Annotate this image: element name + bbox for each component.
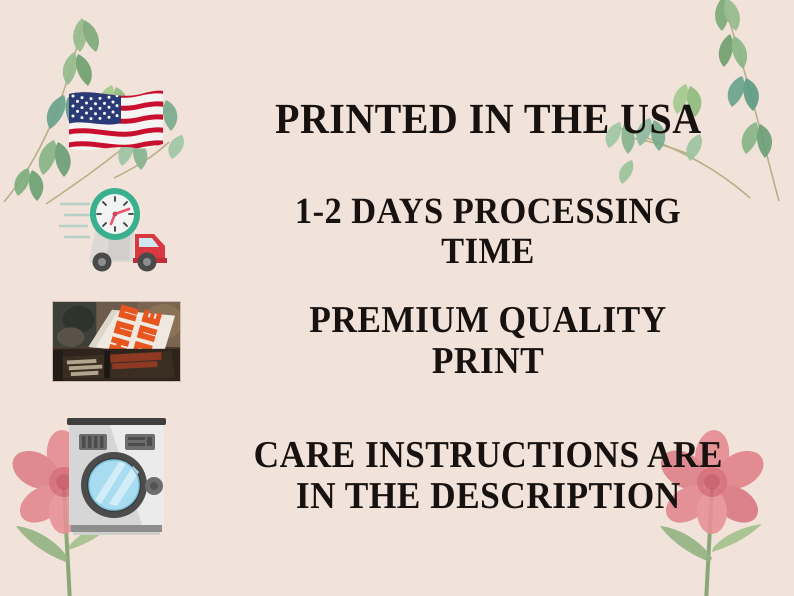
promo-poster: PRINTED IN THE USA (0, 0, 794, 596)
feature-row-processing-time: 1-2 DAYS PROCESSING TIME (0, 178, 794, 286)
screen-printing-photo (52, 301, 181, 382)
washing-machine-icon (63, 412, 170, 540)
icon-cell-processing-time (0, 188, 232, 276)
feature-text-processing-time: 1-2 DAYS PROCESSING TIME (250, 192, 726, 272)
feature-text-care-line1: CARE INSTRUCTIONS ARE (253, 435, 722, 476)
text-cell-usa: PRINTED IN THE USA (232, 97, 794, 143)
icon-cell-usa (0, 88, 232, 152)
feature-row-care: CARE INSTRUCTIONS ARE IN THE DESCRIPTION (0, 396, 794, 556)
fast-delivery-clock-icon (59, 188, 174, 276)
feature-text-quality: PREMIUM QUALITY PRINT (250, 300, 726, 382)
text-cell-processing-time: 1-2 DAYS PROCESSING TIME (232, 192, 794, 272)
feature-row-quality: PREMIUM QUALITY PRINT (0, 286, 794, 396)
usa-flag-icon (67, 88, 165, 152)
text-cell-quality: PREMIUM QUALITY PRINT (232, 300, 794, 382)
icon-cell-care (0, 412, 232, 540)
feature-text-care: CARE INSTRUCTIONS ARE IN THE DESCRIPTION (253, 435, 722, 517)
feature-row-usa: PRINTED IN THE USA (0, 60, 794, 180)
feature-text-care-line2: IN THE DESCRIPTION (253, 476, 722, 517)
feature-text-usa: PRINTED IN THE USA (275, 97, 702, 143)
icon-cell-quality (0, 301, 232, 382)
text-cell-care: CARE INSTRUCTIONS ARE IN THE DESCRIPTION (232, 435, 794, 517)
